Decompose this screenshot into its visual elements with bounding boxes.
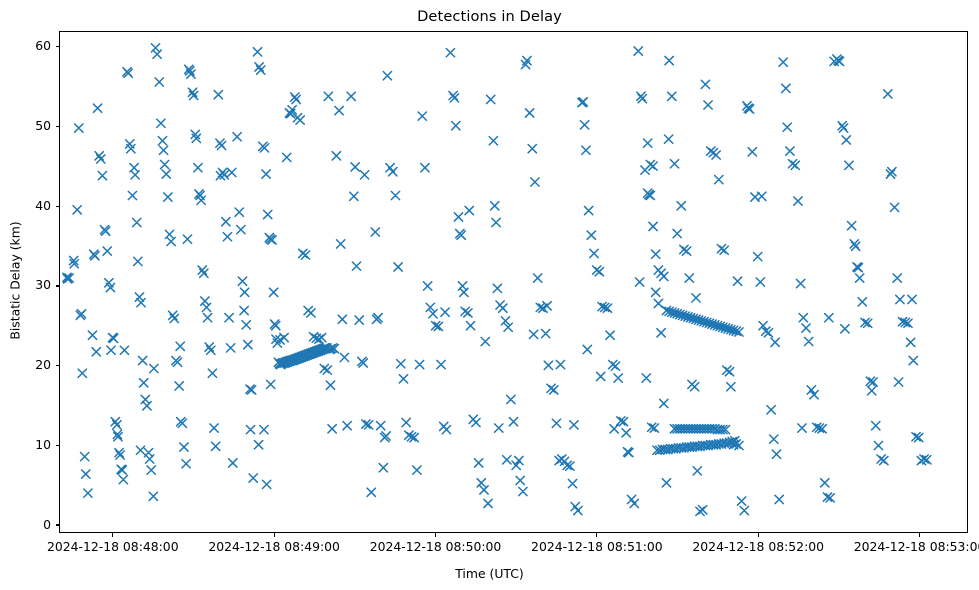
x-axis-ticks: 2024-12-18 08:48:002024-12-18 08:49:0020… bbox=[59, 533, 968, 563]
y-tick-line bbox=[56, 46, 60, 47]
y-tick-line bbox=[56, 445, 60, 446]
x-tick-label: 2024-12-18 08:49:00 bbox=[208, 539, 340, 554]
y-tick-label: 60 bbox=[35, 38, 51, 53]
x-tick-label: 2024-12-18 08:50:00 bbox=[370, 539, 502, 554]
y-tick-label: 40 bbox=[35, 198, 51, 213]
y-axis-label: Bistatic Delay (km) bbox=[8, 30, 23, 532]
y-tick-line bbox=[56, 285, 60, 286]
y-tick-line bbox=[56, 206, 60, 207]
y-tick-label: 10 bbox=[35, 437, 51, 452]
x-tick-line bbox=[435, 533, 436, 537]
scatter-series bbox=[60, 32, 967, 532]
x-tick-line bbox=[758, 533, 759, 537]
x-tick-line bbox=[919, 533, 920, 537]
x-tick-label: 2024-12-18 08:53:00 bbox=[854, 539, 979, 554]
x-tick-label: 2024-12-18 08:51:00 bbox=[531, 539, 663, 554]
x-tick-line bbox=[112, 533, 113, 537]
scatter-plot-figure: Detections in Delay 0102030405060 2024-1… bbox=[0, 0, 979, 590]
y-tick-line bbox=[56, 365, 60, 366]
y-tick-line bbox=[56, 126, 60, 127]
x-axis-label: Time (UTC) bbox=[0, 566, 979, 581]
plot-area bbox=[59, 31, 968, 533]
y-tick-label: 20 bbox=[35, 357, 51, 372]
page-title: Detections in Delay bbox=[0, 8, 979, 25]
x-tick-line bbox=[596, 533, 597, 537]
y-tick-label: 0 bbox=[43, 517, 51, 532]
y-tick-label: 30 bbox=[35, 277, 51, 292]
x-tick-label: 2024-12-18 08:52:00 bbox=[692, 539, 824, 554]
x-tick-label: 2024-12-18 08:48:00 bbox=[47, 539, 179, 554]
scatter-marker-path bbox=[63, 44, 931, 516]
y-tick-line bbox=[56, 524, 60, 525]
x-tick-line bbox=[274, 533, 275, 537]
y-tick-label: 50 bbox=[35, 118, 51, 133]
